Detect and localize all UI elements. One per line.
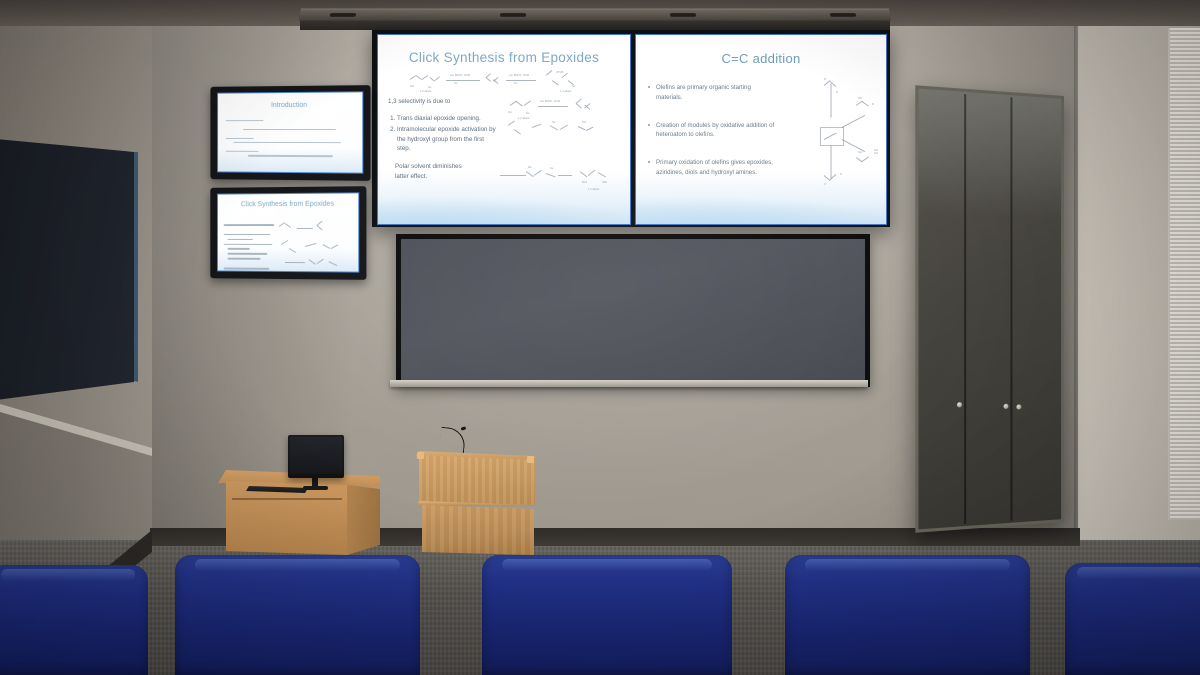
chair[interactable]	[0, 565, 148, 675]
track-fixture-icon	[330, 13, 357, 17]
list-item: Trans diaxial epoxide opening.	[397, 114, 496, 124]
monitor-text-lines	[224, 224, 278, 273]
wall-monitor-top[interactable]: Introduction	[210, 85, 370, 181]
monitor-screen: Click Synthesis from Epoxides	[217, 192, 359, 272]
ceiling-light-track	[299, 8, 891, 20]
track-fixture-icon	[830, 13, 857, 17]
projection-screen-retracted[interactable]	[396, 234, 870, 387]
chair[interactable]	[482, 555, 732, 675]
cabinet-knob-icon[interactable]	[1016, 404, 1021, 409]
cabinet-door-divider	[964, 94, 966, 524]
cabinet-knob-icon[interactable]	[1003, 404, 1008, 409]
tail-line-1: Polar solvent diminishes	[388, 162, 496, 172]
reaction-scheme-top: cat. BINOL, DCM Nu cat. BINOL, DCM Nu OH…	[406, 71, 616, 93]
board-surface	[401, 239, 865, 382]
storage-cabinet[interactable]	[915, 85, 1064, 533]
chair[interactable]	[785, 555, 1030, 675]
slide-numbered-list: Trans diaxial epoxide opening. Intramole…	[388, 114, 496, 154]
monitor-text-lines	[226, 120, 354, 160]
list-item: Primary oxidation of olefins gives epoxi…	[648, 158, 778, 178]
list-item: Olefins are primary organic starting mat…	[648, 83, 778, 103]
cabinet-knob-icon[interactable]	[957, 402, 962, 407]
instructor-desk-side	[347, 483, 380, 555]
slide-lead-text: 1,3 selectivity is due to	[388, 97, 496, 107]
projected-slide-left: Click Synthesis from Epoxides cat. BINOL…	[377, 34, 631, 225]
reaction-scheme-bottom: Me Nu BnO OBn 1,3 attack	[498, 161, 626, 201]
slide-title-left: Click Synthesis from Epoxides	[378, 50, 630, 65]
olefin-module-diagram: R R OH R NH HO OH O R	[794, 77, 880, 193]
projected-slide-right: C=C addition Olefins are primary organic…	[635, 34, 887, 225]
desk-monitor[interactable]	[288, 435, 344, 478]
slide-title-right: C=C addition	[636, 51, 886, 66]
list-item: Intramolecular epoxide activation by the…	[397, 125, 496, 154]
track-fixture-icon	[670, 13, 696, 17]
window-blinds[interactable]	[1170, 28, 1200, 520]
slide-bullet-list: Olefins are primary organic starting mat…	[648, 83, 778, 196]
dual-projection-display: Click Synthesis from Epoxides cat. BINOL…	[372, 30, 890, 227]
slide-footer-graphic	[635, 196, 887, 225]
reaction-scheme-middle: cat. BINOL, DCM OH Nu 1,2 attack Nu OH	[504, 95, 624, 135]
desk-drawer-seam[interactable]	[232, 498, 342, 500]
ceiling-beam	[300, 20, 890, 30]
monitor-scheme-graphic	[275, 220, 353, 273]
right-wall-corner	[1074, 0, 1079, 592]
cabinet-door-divider	[1010, 97, 1012, 521]
podium-corner-cap	[527, 456, 534, 463]
monitor-screen: Introduction	[217, 91, 363, 173]
podium-woodgrain	[419, 455, 535, 505]
monitor-slide-title: Click Synthesis from Epoxides	[218, 200, 358, 208]
classroom-scene: Click Synthesis from Epoxides cat. BINOL…	[0, 0, 1200, 675]
monitor-slide-title: Introduction	[218, 101, 362, 109]
list-item: Creation of modules by oxidative additio…	[648, 121, 778, 141]
desk-monitor-screen	[290, 437, 342, 474]
wall-monitor-bottom[interactable]: Click Synthesis from Epoxides	[210, 186, 366, 280]
cabinet-reflection	[918, 89, 1061, 219]
slide-tail-text: Polar solvent diminishes latter effect.	[388, 162, 496, 181]
tail-line-2: latter effect.	[388, 172, 496, 182]
chair[interactable]	[1065, 563, 1200, 675]
slide-body-left: 1,3 selectivity is due to Trans diaxial …	[388, 97, 496, 181]
desk-monitor-stand	[312, 478, 318, 487]
chair[interactable]	[175, 555, 420, 675]
track-fixture-icon	[500, 13, 526, 17]
chalk-tray	[390, 380, 868, 387]
window-with-blinds	[1168, 28, 1200, 520]
podium-corner-cap	[417, 452, 424, 459]
podium-body-woodgrain	[422, 505, 534, 555]
